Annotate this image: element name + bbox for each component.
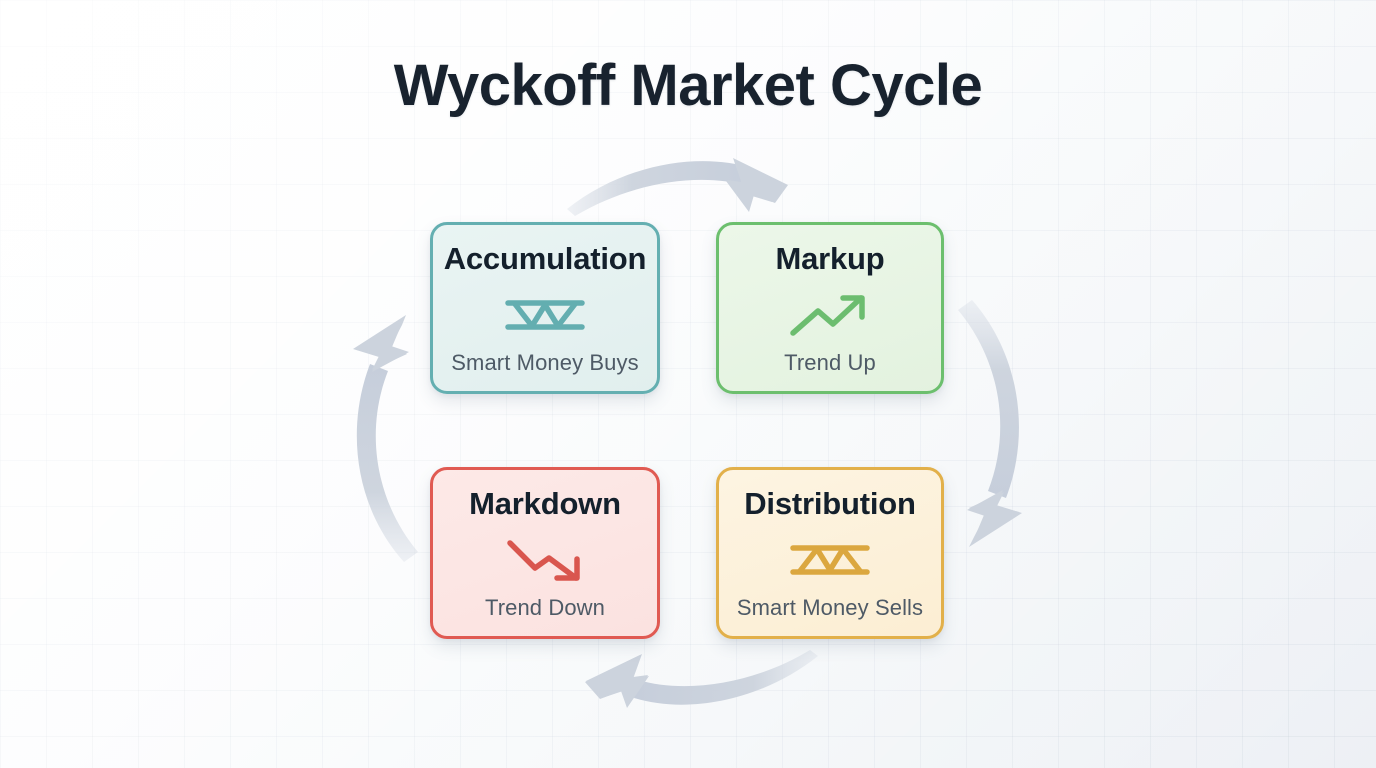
- card-markdown[interactable]: Markdown Trend Down: [430, 467, 660, 639]
- diagram-canvas: Wyckoff Market Cycle: [0, 0, 1376, 768]
- range-bottom-icon: [502, 289, 588, 341]
- arrow-markdown-to-accumulation: [353, 315, 418, 562]
- trend-up-arrow-icon: [787, 289, 873, 341]
- card-accumulation[interactable]: Accumulation Smart Money Buys: [430, 222, 660, 394]
- card-subtitle-distribution: Smart Money Sells: [737, 595, 923, 621]
- arrow-markup-to-distribution: [958, 300, 1022, 547]
- card-title-accumulation: Accumulation: [444, 242, 647, 276]
- arrow-accumulation-to-markup: [567, 158, 788, 216]
- card-subtitle-markup: Trend Up: [784, 350, 876, 376]
- card-title-markdown: Markdown: [469, 487, 621, 521]
- card-title-markup: Markup: [775, 242, 884, 276]
- card-title-distribution: Distribution: [744, 487, 916, 521]
- trend-down-arrow-icon: [502, 534, 588, 586]
- page-title: Wyckoff Market Cycle: [0, 52, 1376, 119]
- card-distribution[interactable]: Distribution Smart Money Sells: [716, 467, 944, 639]
- range-top-icon: [787, 534, 873, 586]
- card-subtitle-accumulation: Smart Money Buys: [451, 350, 638, 376]
- card-subtitle-markdown: Trend Down: [485, 595, 605, 621]
- arrow-distribution-to-markdown: [585, 650, 818, 708]
- card-markup[interactable]: Markup Trend Up: [716, 222, 944, 394]
